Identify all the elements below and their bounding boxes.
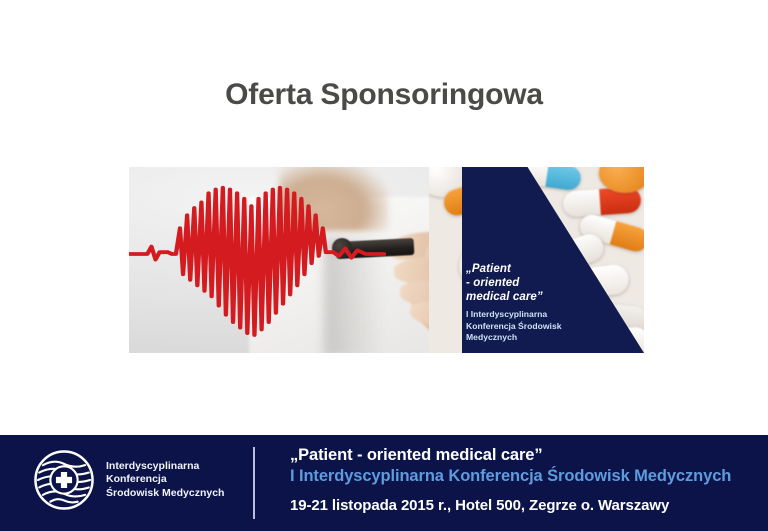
- footer-event-info: „Patient - oriented medical care” I Inte…: [290, 445, 731, 516]
- banner-overlay-subtitle-line: I Interdyscyplinarna: [466, 309, 596, 321]
- footer-event-subtitle: I Interdyscyplinarna Konferencja Środowi…: [290, 466, 731, 487]
- footer-divider: [253, 447, 255, 519]
- banner-overlay-title-line: „Patient: [466, 262, 596, 276]
- footer-brand-line: Konferencja: [106, 473, 224, 487]
- banner-overlay-subtitle: I Interdyscyplinarna Konferencja Środowi…: [466, 309, 596, 344]
- banner-overlay-text: „Patient - oriented medical care” I Inte…: [466, 262, 596, 344]
- banner-overlay-subtitle-line: Medycznych: [466, 332, 596, 344]
- banner-overlay-title-line: medical care”: [466, 290, 596, 304]
- banner-overlay-title: „Patient - oriented medical care”: [466, 262, 596, 304]
- footer-event-title: „Patient - oriented medical care”: [290, 445, 731, 466]
- footer-brand-line: Środowisk Medycznych: [106, 487, 224, 501]
- footer-brand-text: Interdyscyplinarna Konferencja Środowisk…: [106, 460, 224, 501]
- conference-banner-image: „Patient - oriented medical care” I Inte…: [129, 167, 644, 353]
- footer-brand: Interdyscyplinarna Konferencja Środowisk…: [33, 449, 224, 511]
- footer-event-details: 19-21 listopada 2015 r., Hotel 500, Zegr…: [290, 496, 731, 516]
- footer-bar: Interdyscyplinarna Konferencja Środowisk…: [0, 435, 768, 531]
- conference-emblem-icon: [33, 449, 95, 511]
- footer-brand-line: Interdyscyplinarna: [106, 460, 224, 474]
- banner-overlay-subtitle-line: Konferencja Środowisk: [466, 321, 596, 333]
- page-title: Oferta Sponsoringowa: [0, 78, 768, 112]
- banner-overlay-title-line: - oriented: [466, 276, 596, 290]
